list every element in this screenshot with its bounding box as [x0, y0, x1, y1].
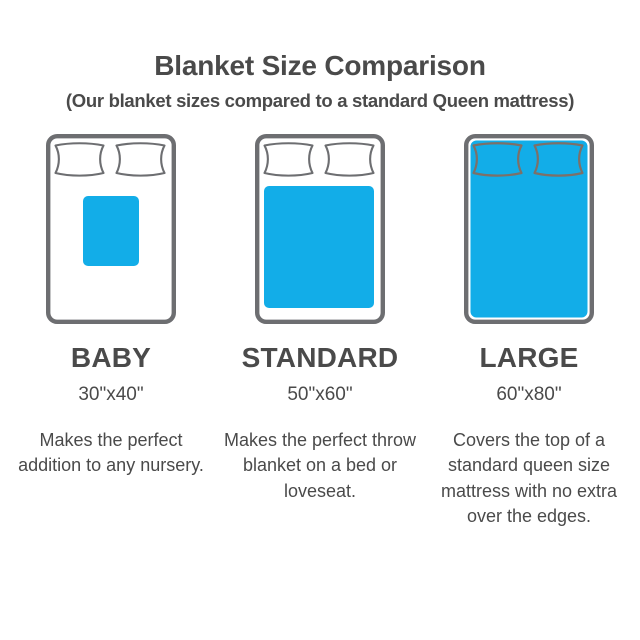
- size-comparison-columns: BABY 30"x40" Makes the perfect addition …: [0, 134, 640, 530]
- size-description-large: Covers the top of a standard queen size …: [430, 428, 628, 530]
- size-dimensions-large: 60"x80": [496, 385, 561, 404]
- size-name-large: LARGE: [480, 344, 579, 372]
- size-column-large: LARGE 60"x80" Covers the top of a standa…: [426, 134, 632, 530]
- size-description-standard: Makes the perfect throw blanket on a bed…: [221, 428, 419, 505]
- size-description-baby: Makes the perfect addition to any nurser…: [12, 428, 210, 479]
- bed-with-baby-blanket-icon: [46, 134, 176, 324]
- page-header: Blanket Size Comparison (Our blanket siz…: [0, 0, 640, 111]
- page-subtitle: (Our blanket sizes compared to a standar…: [0, 92, 640, 111]
- bed-with-large-blanket-icon: [464, 134, 594, 324]
- size-column-standard: STANDARD 50"x60" Makes the perfect throw…: [217, 134, 423, 505]
- bed-with-standard-blanket-icon: [255, 134, 385, 324]
- page-title: Blanket Size Comparison: [0, 52, 640, 80]
- size-name-standard: STANDARD: [242, 344, 399, 372]
- size-dimensions-standard: 50"x60": [287, 385, 352, 404]
- size-name-baby: BABY: [71, 344, 151, 372]
- size-column-baby: BABY 30"x40" Makes the perfect addition …: [8, 134, 214, 479]
- size-dimensions-baby: 30"x40": [78, 385, 143, 404]
